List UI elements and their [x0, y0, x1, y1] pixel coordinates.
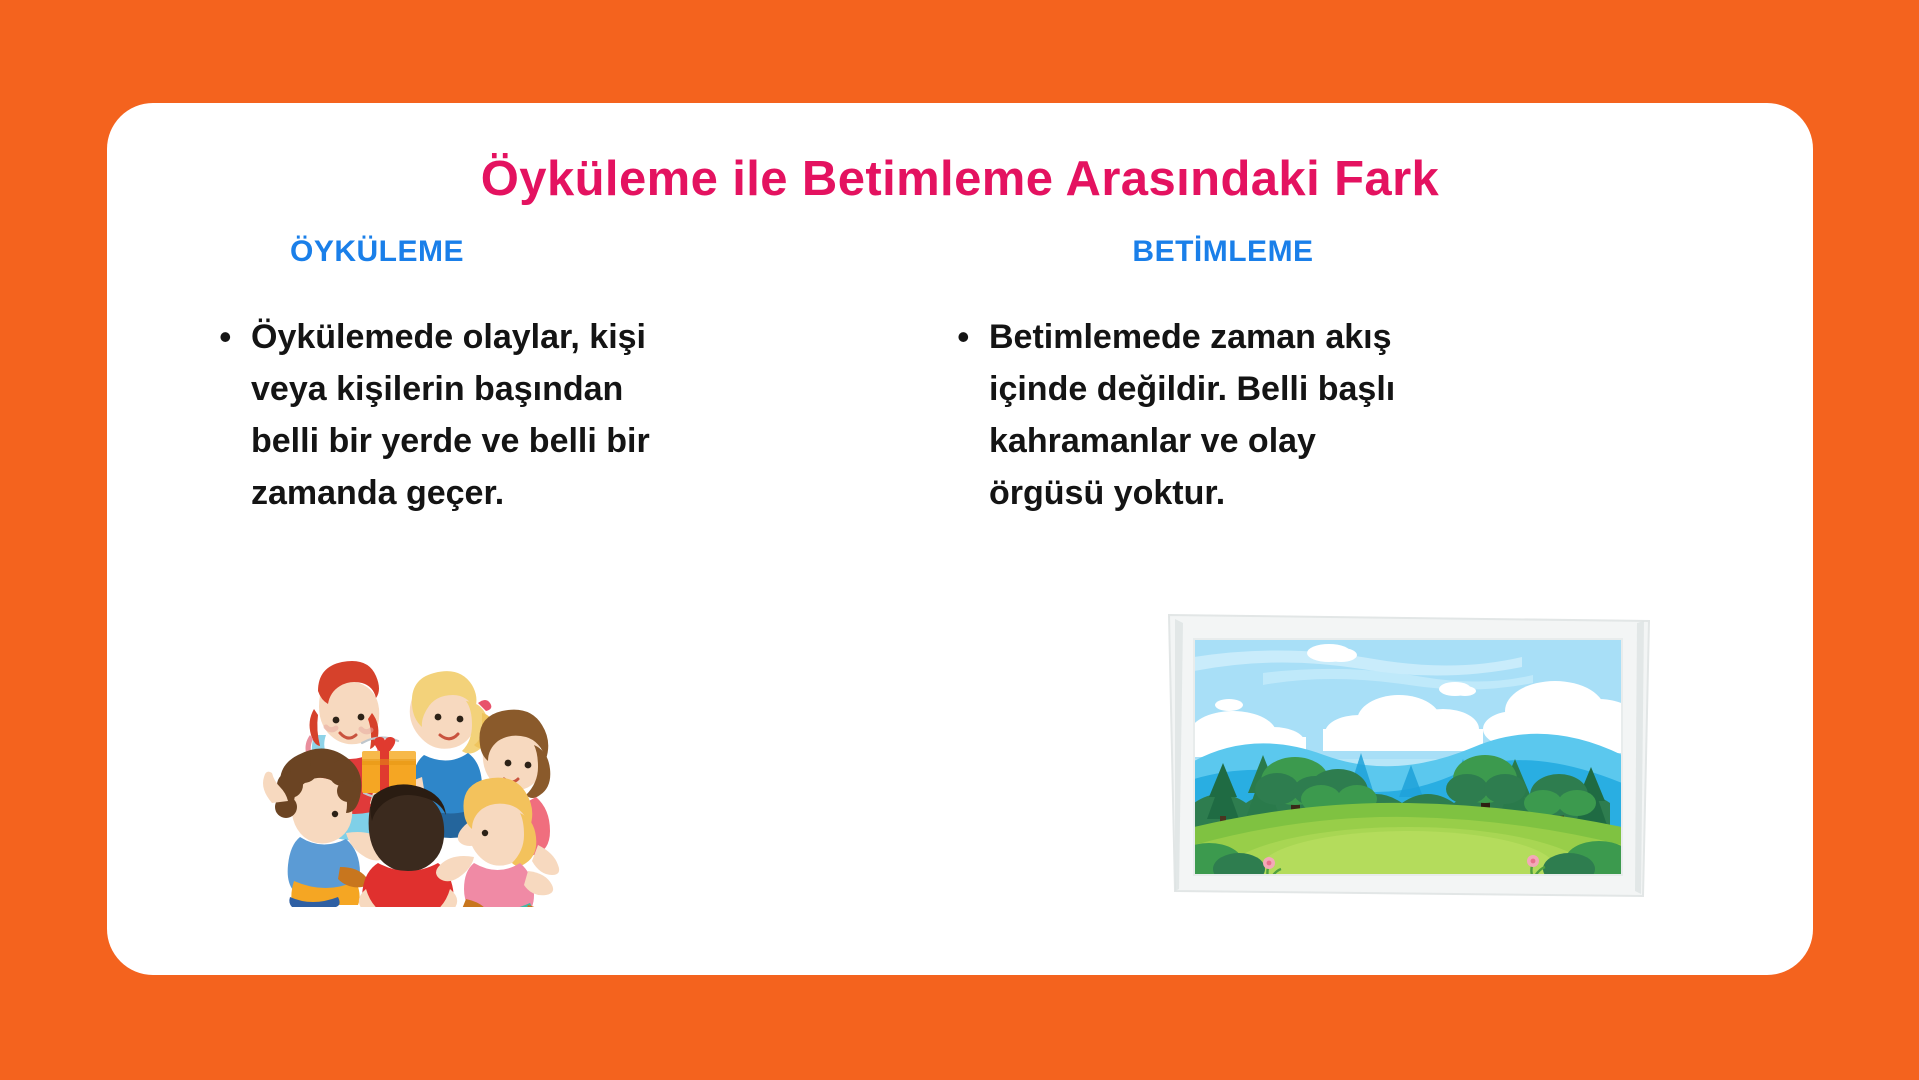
column-heading-betimleme: BETİMLEME [907, 235, 1652, 275]
framed-landscape-painting-illustration [1163, 613, 1655, 900]
column-betimleme: BETİMLEME • Betimlemede zaman akış içind… [907, 235, 1652, 519]
children-circle-gift-svg [242, 617, 572, 907]
bullet-marker-icon: • [957, 311, 975, 363]
column-heading-oykuleme: ÖYKÜLEME [147, 235, 892, 275]
framed-landscape-svg [1163, 613, 1655, 900]
column-oykuleme: ÖYKÜLEME • Öykülemede olaylar, kişi veya… [147, 235, 892, 519]
bullet-text-betimleme: Betimlemede zaman akış içinde değildir. … [989, 311, 1409, 519]
bullet-text-oykuleme: Öykülemede olaylar, kişi veya kişilerin … [251, 311, 671, 519]
children-circle-gift-illustration [242, 617, 572, 907]
bullet-marker-icon: • [219, 311, 237, 363]
bullet-item-oykuleme: • Öykülemede olaylar, kişi veya kişileri… [147, 311, 892, 519]
page-title: Öyküleme ile Betimleme Arasındaki Fark [107, 151, 1813, 207]
bullet-item-betimleme: • Betimlemede zaman akış içinde değildir… [907, 311, 1652, 519]
slide-canvas: Öyküleme ile Betimleme Arasındaki Fark Ö… [0, 0, 1919, 1080]
painting-canvas [1175, 639, 1639, 900]
